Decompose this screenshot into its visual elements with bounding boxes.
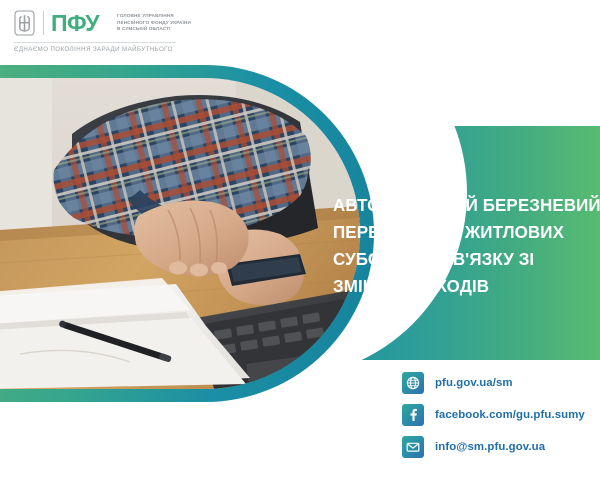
contact-row-email[interactable]: info@sm.pfu.gov.ua — [402, 436, 600, 458]
email-label: info@sm.pfu.gov.ua — [435, 441, 545, 453]
logo-row: ПФУ ГОЛОВНЕ УПРАВЛІННЯ ПЕНСІЙНОГО ФОНДУ … — [14, 7, 314, 39]
org-line-1: ГОЛОВНЕ УПРАВЛІННЯ — [117, 13, 191, 20]
logo-divider — [43, 11, 44, 35]
tagline-container: ЄДНАЄМО ПОКОЛІННЯ ЗАРАДИ МАЙБУТНЬОГО — [14, 42, 176, 53]
contact-list: pfu.gov.ua/sm facebook.com/gu.pfu.sumy i… — [402, 372, 600, 468]
contact-row-facebook[interactable]: facebook.com/gu.pfu.sumy — [402, 404, 600, 426]
ukraine-trident-emblem-icon — [14, 10, 35, 36]
headline-text: АВТОМАТИЧНИЙ БЕРЕЗНЕВИЙ ПЕРЕРАХУНОК ЖИТЛ… — [333, 192, 587, 300]
headline-line-3: СУБСИДІЙ У ЗВ'ЯЗКУ ЗІ — [333, 246, 587, 273]
headline-line-4: ЗМІНОЮ ДОХОДІВ — [333, 273, 587, 300]
website-label: pfu.gov.ua/sm — [435, 377, 513, 389]
headline-line-1: АВТОМАТИЧНИЙ БЕРЕЗНЕВИЙ — [333, 192, 587, 219]
svg-text:ПФУ: ПФУ — [51, 10, 100, 36]
organization-tagline: ЄДНАЄМО ПОКОЛІННЯ ЗАРАДИ МАЙБУТНЬОГО — [14, 46, 170, 53]
envelope-icon — [402, 436, 424, 458]
poster-canvas: ПФУ ГОЛОВНЕ УПРАВЛІННЯ ПЕНСІЙНОГО ФОНДУ … — [0, 0, 600, 477]
facebook-label: facebook.com/gu.pfu.sumy — [435, 409, 585, 421]
globe-icon — [402, 372, 424, 394]
organization-logo: ПФУ ГОЛОВНЕ УПРАВЛІННЯ ПЕНСІЙНОГО ФОНДУ … — [14, 7, 314, 57]
facebook-icon — [402, 404, 424, 426]
organization-name: ГОЛОВНЕ УПРАВЛІННЯ ПЕНСІЙНОГО ФОНДУ УКРА… — [117, 13, 191, 33]
pfu-wordmark-icon: ПФУ — [51, 10, 109, 36]
contact-row-website[interactable]: pfu.gov.ua/sm — [402, 372, 600, 394]
headline-line-2: ПЕРЕРАХУНОК ЖИТЛОВИХ — [333, 219, 587, 246]
org-line-3: В СУМСЬКІЙ ОБЛАСТІ — [117, 26, 191, 33]
